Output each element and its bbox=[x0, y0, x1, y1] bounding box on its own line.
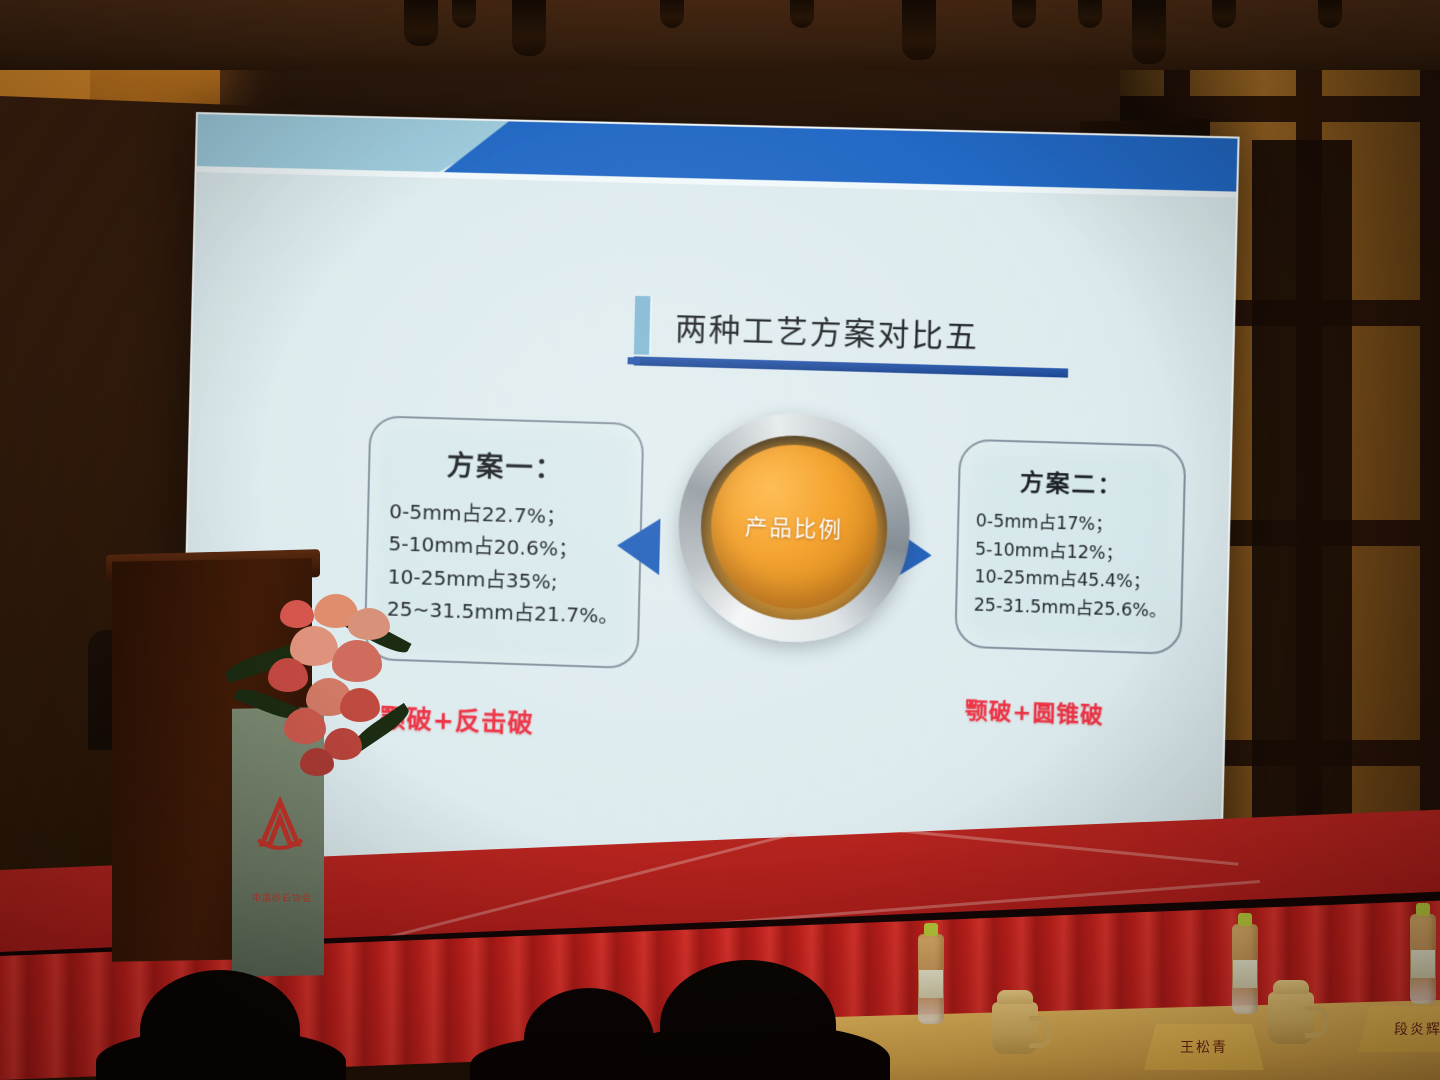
water-bottle bbox=[918, 934, 944, 1024]
name-card: 王松青 bbox=[1144, 1024, 1264, 1070]
water-bottle bbox=[1232, 924, 1258, 1014]
name-card: 段炎辉 bbox=[1358, 1006, 1440, 1052]
tea-cup bbox=[1268, 992, 1314, 1044]
slide-title: 两种工艺方案对比五 bbox=[675, 303, 980, 357]
audience-shoulders bbox=[612, 1024, 890, 1080]
tea-cup bbox=[992, 1002, 1038, 1054]
podium-logo-label: 中国砂石协会 bbox=[244, 891, 320, 904]
plan-two-box: 方案二： 0-5mm占17%； 5-10mm占12%； 10-25mm占45.4… bbox=[954, 439, 1186, 656]
list-item: 25-31.5mm占25.6%。 bbox=[973, 592, 1180, 627]
title-underline bbox=[634, 356, 1069, 377]
podium-logo-icon bbox=[250, 796, 310, 858]
audience-shoulders bbox=[96, 1030, 346, 1080]
name-card-label: 王松青 bbox=[1180, 1037, 1228, 1057]
plan-one-heading: 方案一： bbox=[370, 441, 642, 488]
plan-two-caption: 颚破+圆锥破 bbox=[965, 693, 1104, 730]
ceiling-spotlights bbox=[0, 0, 1440, 72]
orb-inner-ring: 产品比例 bbox=[699, 433, 889, 623]
orb-core: 产品比例 bbox=[709, 442, 879, 611]
venue-room: 两种工艺方案对比五 方案一： 0-5mm占22.7%； 5-10mm占20.6%… bbox=[0, 0, 1440, 1080]
flower-arrangement bbox=[228, 592, 414, 792]
title-accent-bar bbox=[634, 296, 653, 355]
plan-two-list: 0-5mm占17%； 5-10mm占12%； 10-25mm占45.4%； 25… bbox=[973, 508, 1182, 627]
name-card-label: 段炎辉 bbox=[1394, 1019, 1440, 1039]
orb-label: 产品比例 bbox=[745, 509, 844, 544]
plan-two-heading: 方案二： bbox=[960, 461, 1184, 502]
center-orb: 产品比例 bbox=[676, 410, 912, 646]
slide-title-block: 两种工艺方案对比五 bbox=[635, 294, 1169, 308]
list-item: 25~31.5mm占21.7%。 bbox=[387, 593, 639, 634]
arrow-left-icon bbox=[616, 517, 660, 575]
water-bottle bbox=[1410, 914, 1436, 1004]
plan-one-list: 0-5mm占22.7%； 5-10mm占20.6%； 10-25mm占35%; … bbox=[387, 495, 641, 633]
